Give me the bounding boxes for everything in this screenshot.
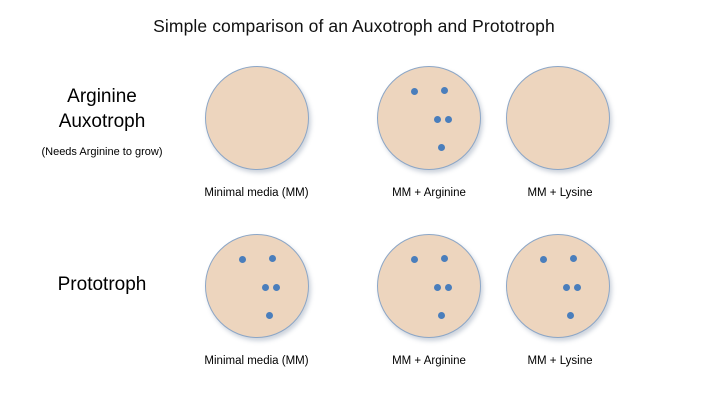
- colony-dot: [540, 256, 547, 263]
- plate-group-prototroph-minimal-media: Minimal media (MM): [191, 228, 323, 368]
- colony-dot: [266, 312, 273, 319]
- colony-dot: [438, 144, 445, 151]
- colony-dot: [441, 255, 448, 262]
- row-label-prototroph: Prototroph: [8, 272, 196, 297]
- plate-caption: MM + Lysine: [496, 186, 624, 200]
- plate-caption: MM + Arginine: [363, 186, 495, 200]
- colony-dot: [574, 284, 581, 291]
- colony-dot: [273, 284, 280, 291]
- colony-dot: [411, 88, 418, 95]
- plate-group-prototroph-mm-arginine: MM + Arginine: [363, 228, 495, 368]
- petri-dish-auxotroph-minimal-media: [205, 66, 309, 170]
- row-prototroph: Prototroph Minimal media (MM) MM + Argin…: [0, 228, 708, 368]
- petri-dish-prototroph-minimal-media: [205, 234, 309, 338]
- colony-dot: [445, 284, 452, 291]
- row-label-line1: Prototroph: [8, 272, 196, 297]
- page-title: Simple comparison of an Auxotroph and Pr…: [0, 16, 708, 37]
- colony-dot: [441, 87, 448, 94]
- plate-group-auxotroph-mm-arginine: MM + Arginine: [363, 60, 495, 200]
- plate-group-prototroph-mm-lysine: MM + Lysine: [492, 228, 624, 368]
- row-arginine-auxotroph: Arginine Auxotroph (Needs Arginine to gr…: [0, 60, 708, 200]
- petri-dish-prototroph-mm-lysine: [506, 234, 610, 338]
- colony-dot: [567, 312, 574, 319]
- colony-dot: [445, 116, 452, 123]
- plate-group-auxotroph-mm-lysine: MM + Lysine: [492, 60, 624, 200]
- colony-dot: [239, 256, 246, 263]
- slide-canvas: Simple comparison of an Auxotroph and Pr…: [0, 0, 708, 415]
- colony-dot: [411, 256, 418, 263]
- colony-dot: [563, 284, 570, 291]
- colony-dot: [262, 284, 269, 291]
- row-label-note: (Needs Arginine to grow): [8, 145, 196, 159]
- petri-dish-prototroph-mm-arginine: [377, 234, 481, 338]
- petri-dish-auxotroph-mm-arginine: [377, 66, 481, 170]
- colony-dot: [438, 312, 445, 319]
- plate-caption: MM + Lysine: [496, 354, 624, 368]
- row-label-line1: Arginine: [8, 84, 196, 109]
- plate-caption: MM + Arginine: [363, 354, 495, 368]
- colony-dot: [434, 116, 441, 123]
- plate-caption: Minimal media (MM): [190, 354, 323, 368]
- colony-dot: [434, 284, 441, 291]
- row-label-arginine-auxotroph: Arginine Auxotroph (Needs Arginine to gr…: [8, 84, 196, 159]
- row-label-line2: Auxotroph: [8, 109, 196, 134]
- colony-dot: [269, 255, 276, 262]
- colony-dot: [570, 255, 577, 262]
- plate-caption: Minimal media (MM): [190, 186, 323, 200]
- petri-dish-auxotroph-mm-lysine: [506, 66, 610, 170]
- plate-group-auxotroph-minimal-media: Minimal media (MM): [191, 60, 323, 200]
